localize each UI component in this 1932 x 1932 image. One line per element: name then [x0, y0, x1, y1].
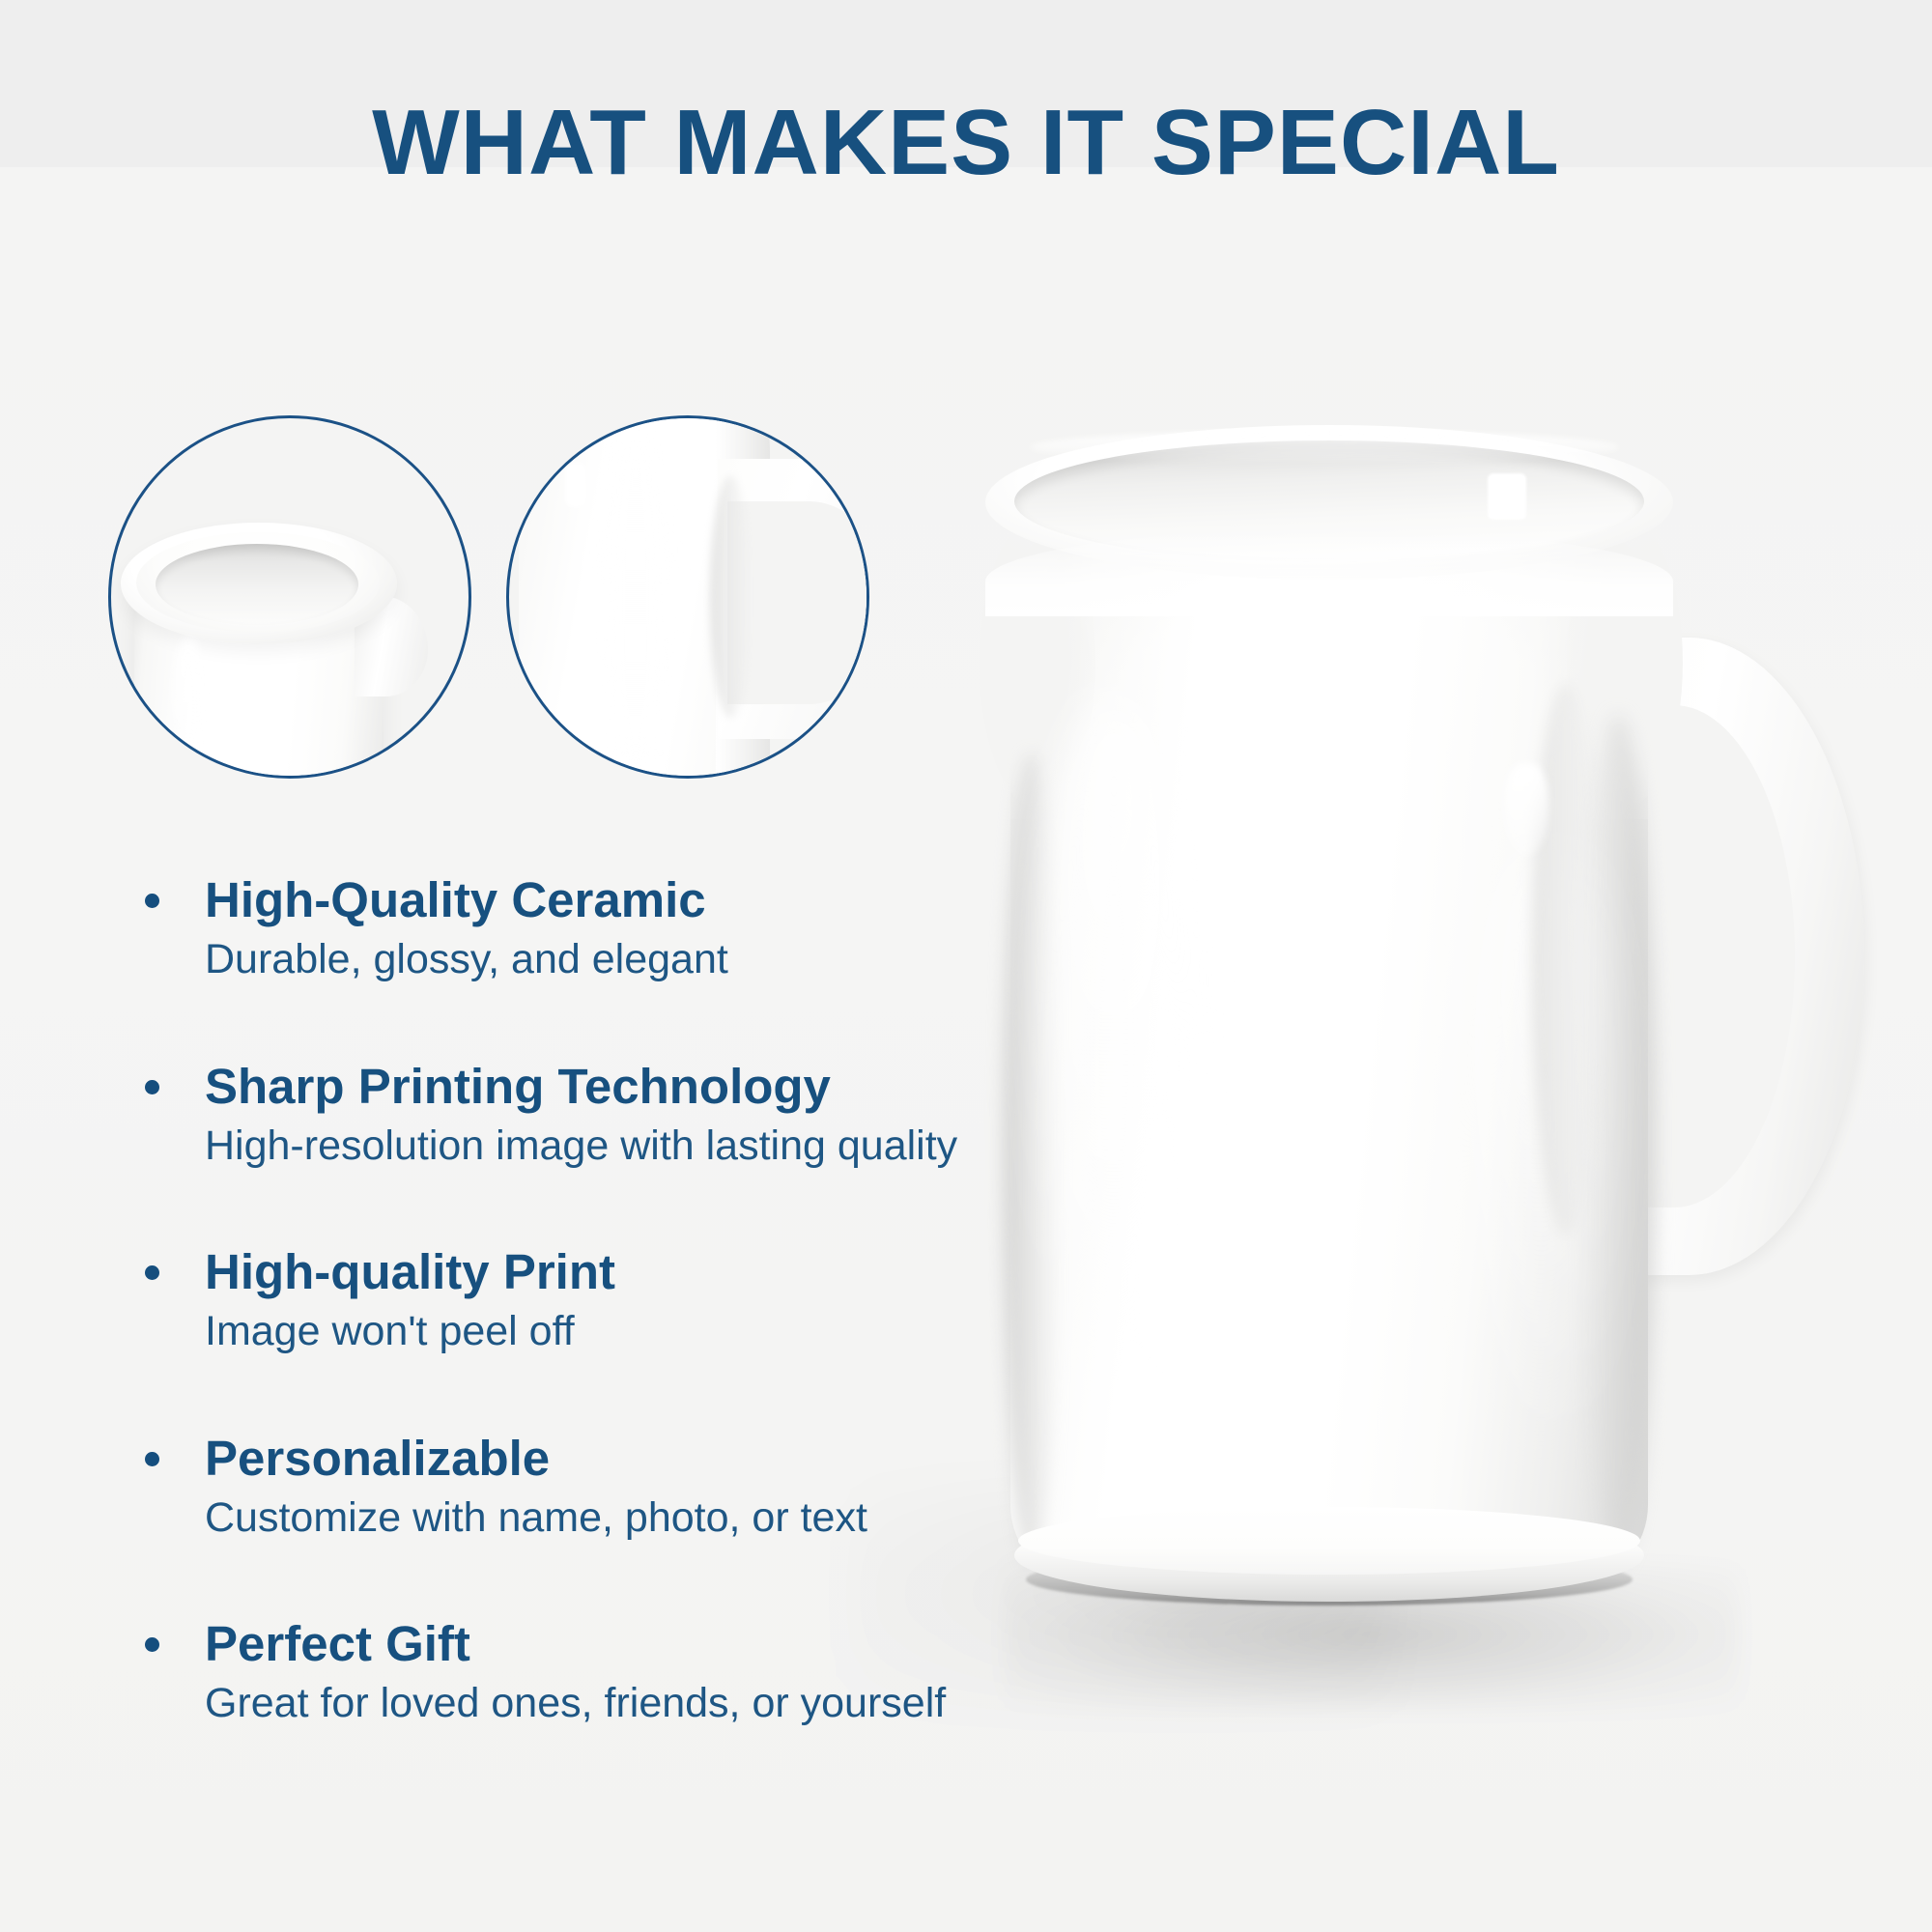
feature-item: High-quality Print Image won't peel off	[145, 1247, 976, 1353]
feature-subtitle: High-resolution image with lasting quali…	[205, 1124, 976, 1168]
detail-circle-rim	[108, 415, 471, 779]
highlight-rim	[1488, 473, 1526, 520]
product-image-mug	[985, 425, 1913, 1710]
feature-title: Personalizable	[205, 1434, 976, 1484]
feature-subtitle: Image won't peel off	[205, 1310, 976, 1353]
infographic-page: WHAT MAKES IT SPECIAL High-Quality	[0, 0, 1932, 1932]
bullet-dot-icon	[145, 1452, 159, 1466]
bullet-dot-icon	[145, 1265, 159, 1280]
highlight-secondary	[1504, 763, 1548, 856]
page-title: WHAT MAKES IT SPECIAL	[0, 62, 1932, 229]
highlight-primary	[1274, 731, 1330, 897]
handle-closeup-illustration	[509, 418, 867, 776]
rim-closeup-illustration	[111, 418, 469, 776]
feature-item: High-Quality Ceramic Durable, glossy, an…	[145, 875, 976, 981]
feature-subtitle: Durable, glossy, and elegant	[205, 938, 976, 981]
bullet-dot-icon	[145, 1080, 159, 1094]
feature-title: High-Quality Ceramic	[205, 875, 976, 925]
bullet-dot-icon	[145, 1637, 159, 1652]
feature-title: High-quality Print	[205, 1247, 976, 1297]
bullet-dot-icon	[145, 894, 159, 908]
detail-circle-handle	[506, 415, 869, 779]
feature-item: Sharp Printing Technology High-resolutio…	[145, 1062, 976, 1168]
feature-title: Sharp Printing Technology	[205, 1062, 976, 1112]
